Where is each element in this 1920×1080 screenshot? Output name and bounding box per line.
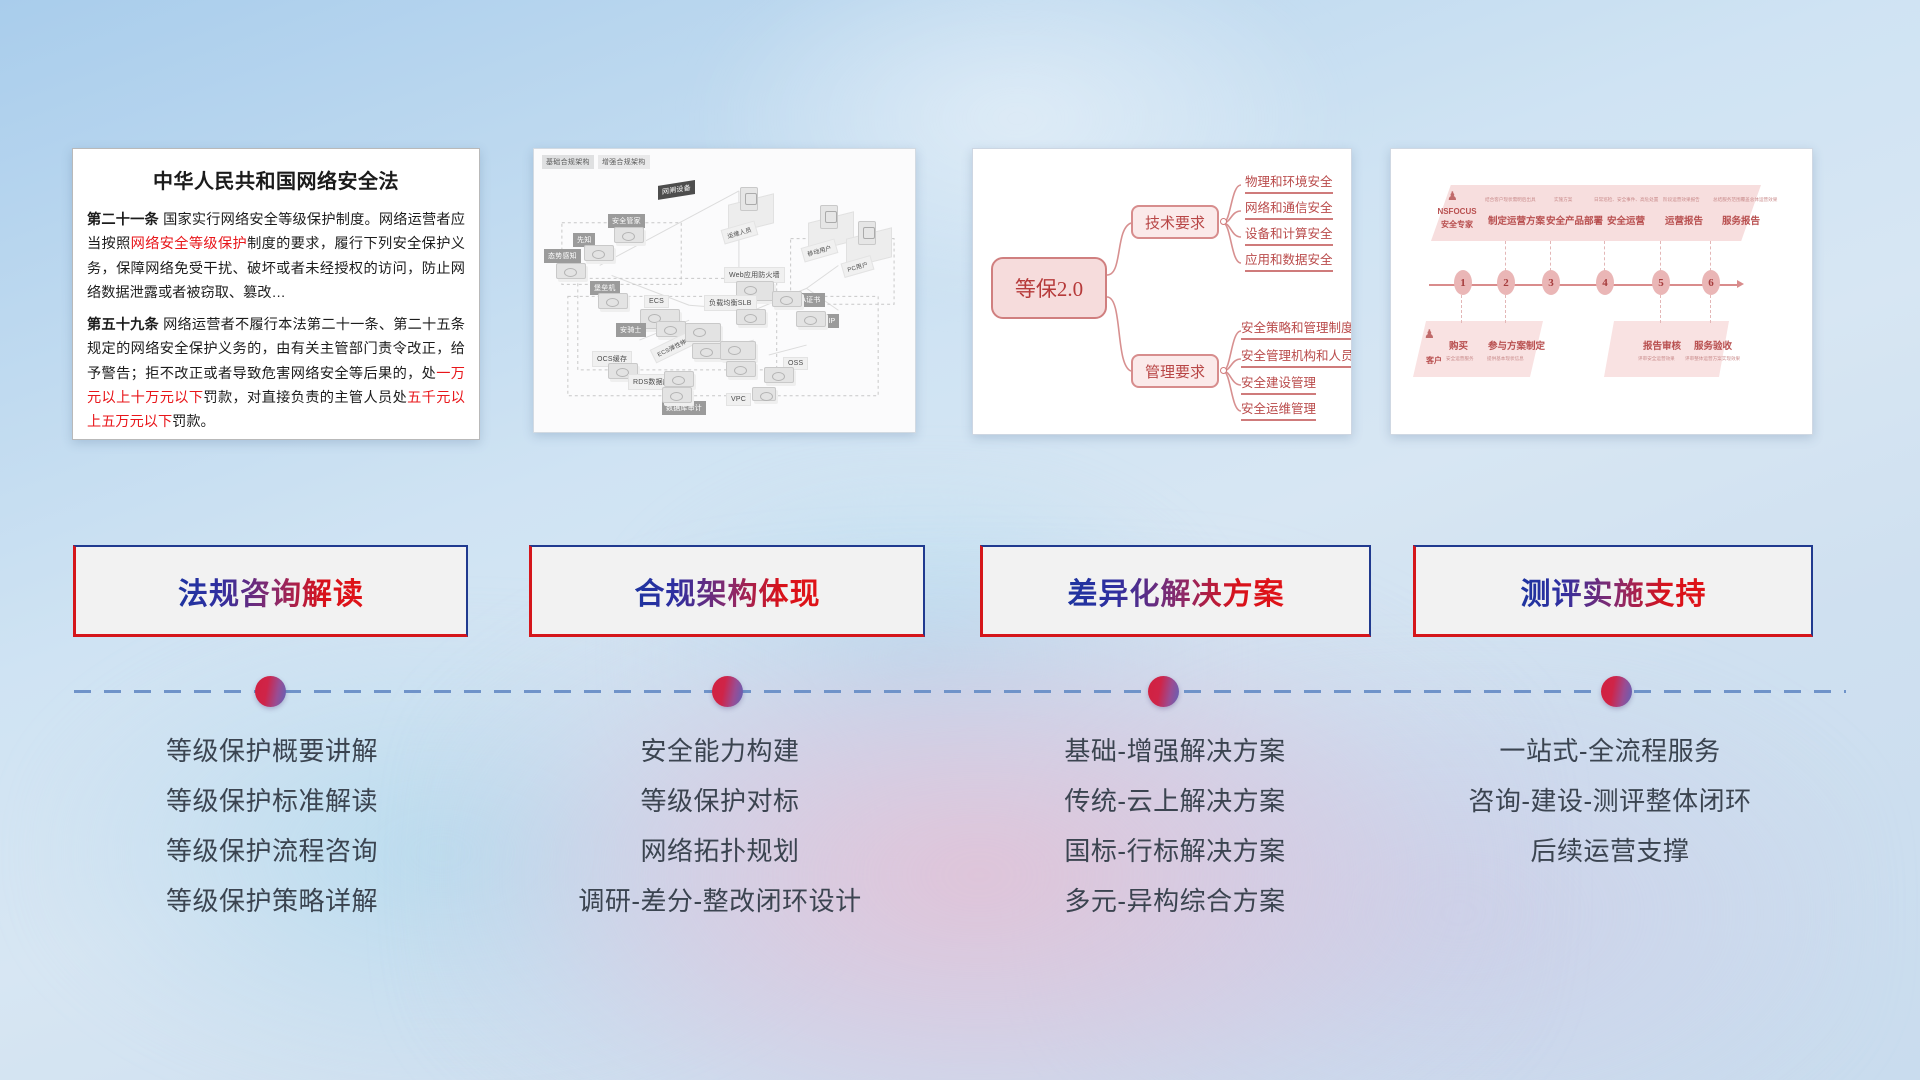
headline-boxes-row: 法规咨询解读 合规架构体现 差异化解决方案 测评实施支持 xyxy=(0,545,1920,645)
timeline-axis xyxy=(1429,284,1739,286)
step-label: 运营报告 xyxy=(1665,213,1703,227)
node-icon-pc-user xyxy=(858,221,876,245)
law-title: 中华人民共和国网络安全法 xyxy=(73,165,479,194)
bottom-item-sub: 评审安全运营效果 xyxy=(1638,356,1675,362)
mindmap-leaf: 安全运维管理 xyxy=(1241,398,1316,421)
list-item: 等级保护概要讲解 xyxy=(72,738,472,764)
headline-box-differentiated-solution[interactable]: 差异化解决方案 xyxy=(980,545,1371,637)
architecture-tabs[interactable]: 基础合规架构 增强合规架构 xyxy=(542,155,650,169)
headline-box-assessment-support[interactable]: 测评实施支持 xyxy=(1413,545,1813,637)
step-label: 服务报告 xyxy=(1722,213,1760,227)
node-icon-autoscale-d xyxy=(726,361,756,377)
timeline-connector xyxy=(1710,241,1711,271)
list-item: 等级保护对标 xyxy=(500,788,940,814)
timeline-dot-2[interactable] xyxy=(712,676,743,707)
card-dengbao-mindmap[interactable]: 等保2.0 技术要求 物理和环境安全 网络和通信安全 设备和计算安全 应用和数据… xyxy=(972,148,1352,435)
mindmap-branch-management: 管理要求 xyxy=(1131,354,1219,388)
timeline-node: 6 xyxy=(1702,270,1720,295)
list-column-compliance-architecture: 安全能力构建 等级保护对标 网络拓扑规划 调研-差分-整改闭环设计 xyxy=(500,738,940,938)
mindmap-root: 等保2.0 xyxy=(991,257,1107,319)
headline-label: 合规架构体现 xyxy=(635,569,821,613)
law-paragraph: 第二十一条 国家实行网络安全等级保护制度。网络运营者应当按照网络安全等级保护制度… xyxy=(87,208,465,306)
customer-person-icon: ♟ xyxy=(1424,327,1435,341)
bottom-item-sub: 提供基本现状信息 xyxy=(1487,356,1524,362)
timeline-connector xyxy=(1604,241,1605,271)
node-icon-xianzhi xyxy=(584,245,614,261)
list-item: 国标-行标解决方案 xyxy=(975,838,1375,864)
timeline-node: 4 xyxy=(1596,270,1614,295)
list-column-assessment-support: 一站式-全流程服务 咨询-建设-测评整体闭环 后续运营支撑 xyxy=(1400,738,1820,888)
bottom-item-label: 服务验收 xyxy=(1694,338,1732,352)
tab-enhanced-architecture[interactable]: 增强合规架构 xyxy=(598,155,650,169)
step-sub: 总结服务范围覆盖总体运营效果 xyxy=(1713,197,1777,203)
list-item: 后续运营支撑 xyxy=(1400,838,1820,864)
preview-cards-row: 中华人民共和国网络安全法 第二十一条 国家实行网络安全等级保护制度。网络运营者应… xyxy=(0,148,1920,443)
mindmap-leaf: 应用和数据安全 xyxy=(1245,249,1333,272)
list-item: 多元-异构综合方案 xyxy=(975,888,1375,914)
law-body: 第二十一条 国家实行网络安全等级保护制度。网络运营者应当按照网络安全等级保护制度… xyxy=(73,208,479,435)
architecture-diagram: 基础合规架构 增强合规架构 xyxy=(534,149,915,432)
step-sub: 实施方案 xyxy=(1554,197,1572,203)
card-cybersecurity-law[interactable]: 中华人民共和国网络安全法 第二十一条 国家实行网络安全等级保护制度。网络运营者应… xyxy=(72,148,480,440)
step-sub: 阶段运营效果报告 xyxy=(1663,197,1700,203)
timeline-node: 3 xyxy=(1542,270,1560,295)
timeline-connector-row xyxy=(0,640,1920,750)
mindmap-branch-technical: 技术要求 xyxy=(1131,205,1219,239)
mindmap-leaf: 网络和通信安全 xyxy=(1245,197,1333,220)
list-item: 调研-差分-整改闭环设计 xyxy=(500,888,940,914)
node-icon-ops-user xyxy=(740,187,758,211)
card-compliance-architecture[interactable]: 基础合规架构 增强合规架构 xyxy=(533,148,916,433)
node-icon-autoscale-b xyxy=(692,343,722,359)
bottom-item-label: 报告审核 xyxy=(1643,338,1681,352)
bottom-item-label: 购买 xyxy=(1449,338,1468,352)
mindmap-leaf: 安全策略和管理制度 xyxy=(1241,317,1352,340)
node-icon-oss xyxy=(764,367,794,383)
timeline-node: 1 xyxy=(1454,270,1472,295)
headline-label: 差异化解决方案 xyxy=(1068,569,1285,613)
mindmap-leaf: 安全管理机构和人员 xyxy=(1241,345,1352,368)
node-label-ecs: ECS xyxy=(644,295,669,308)
node-icon-bastion xyxy=(598,293,628,309)
step-sub: 结合客户现状需明后出具 xyxy=(1485,197,1536,203)
card-nsfocus-service-timeline[interactable]: ♟ NSFOCUS 安全专家 结合客户现状需明后出具 制定运营方案 实施方案 安… xyxy=(1390,148,1813,435)
bottom-lists-row: 等级保护概要讲解 等级保护标准解读 等级保护流程咨询 等级保护策略详解 安全能力… xyxy=(0,738,1920,988)
list-column-differentiated-solution: 基础-增强解决方案 传统-云上解决方案 国标-行标解决方案 多元-异构综合方案 xyxy=(975,738,1375,938)
timeline-dashed-line xyxy=(74,690,1846,693)
headline-label: 法规咨询解读 xyxy=(178,569,364,613)
timeline-connector xyxy=(1550,241,1551,271)
bottom-item-sub: 评审整体运营方案实现效果 xyxy=(1685,356,1740,362)
mindmap-leaf: 设备和计算安全 xyxy=(1245,223,1333,246)
timeline-connector xyxy=(1660,295,1661,323)
node-icon-anti-ddos-ip xyxy=(796,311,826,327)
node-icon-rds xyxy=(664,371,694,387)
list-item: 等级保护标准解读 xyxy=(72,788,472,814)
timeline-connector xyxy=(1461,295,1462,323)
step-sub: 日常巡检、安全事件、高危处置 xyxy=(1594,197,1658,203)
timeline-dot-3[interactable] xyxy=(1148,676,1179,707)
timeline-arrow-icon xyxy=(1737,280,1744,288)
mindmap-leaf: 物理和环境安全 xyxy=(1245,171,1333,194)
bottom-item-label: 参与方案制定 xyxy=(1488,338,1545,352)
nsfocus-brand-sub: 安全专家 xyxy=(1431,219,1483,230)
list-item: 网络拓扑规划 xyxy=(500,838,940,864)
list-item: 咨询-建设-测评整体闭环 xyxy=(1400,788,1820,814)
list-item: 基础-增强解决方案 xyxy=(975,738,1375,764)
timeline-connector xyxy=(1710,295,1711,323)
node-label-anqishi: 安骑士 xyxy=(616,323,646,337)
timeline-node: 2 xyxy=(1497,270,1515,295)
step-label: 安全运营 xyxy=(1607,213,1645,227)
list-column-regulation-consulting: 等级保护概要讲解 等级保护标准解读 等级保护流程咨询 等级保护策略详解 xyxy=(72,738,472,938)
node-icon-security-butler xyxy=(614,227,644,243)
list-item: 一站式-全流程服务 xyxy=(1400,738,1820,764)
timeline-connector xyxy=(1660,241,1661,271)
timeline-connector xyxy=(1505,295,1506,323)
law-paragraph: 第五十九条 网络运营者不履行本法第二十一条、第二十五条规定的网络安全保护义务的，… xyxy=(87,313,465,435)
mindmap-leaf: 安全建设管理 xyxy=(1241,372,1316,395)
headline-label: 测评实施支持 xyxy=(1521,569,1707,613)
node-icon-db-audit xyxy=(662,387,692,403)
node-icon-ca-cert xyxy=(772,291,802,307)
node-label-situation-awareness: 态势感知 xyxy=(544,249,581,263)
mindmap-collapse-icon[interactable] xyxy=(1220,367,1227,374)
headline-box-compliance-architecture[interactable]: 合规架构体现 xyxy=(529,545,925,637)
architecture-canvas: 网闸设备 安全管家 先知 态势感知 堡垒机 ECS 安骑士 OCS缓存 RDS数 xyxy=(540,171,909,426)
nsfocus-brand: NSFOCUS xyxy=(1431,207,1483,216)
law-article-number: 第二十一条 xyxy=(87,212,159,228)
law-article-number: 第五十九条 xyxy=(87,317,159,333)
law-text-highlight: 网络安全等级保护 xyxy=(131,236,247,252)
list-item: 安全能力构建 xyxy=(500,738,940,764)
nsfocus-timeline: ♟ NSFOCUS 安全专家 结合客户现状需明后出具 制定运营方案 实施方案 安… xyxy=(1391,149,1812,434)
timeline-dot-4[interactable] xyxy=(1601,676,1632,707)
expert-person-icon: ♟ xyxy=(1447,189,1458,203)
node-icon-autoscale-a xyxy=(685,323,721,342)
list-item: 传统-云上解决方案 xyxy=(975,788,1375,814)
node-icon-situation-awareness xyxy=(556,263,586,279)
headline-box-regulation-consulting[interactable]: 法规咨询解读 xyxy=(73,545,468,637)
mindmap: 等保2.0 技术要求 物理和环境安全 网络和通信安全 设备和计算安全 应用和数据… xyxy=(973,149,1351,434)
node-icon-mobile-user xyxy=(820,205,838,229)
list-item: 等级保护策略详解 xyxy=(72,888,472,914)
mindmap-collapse-icon[interactable] xyxy=(1220,218,1227,225)
node-label-security-butler: 安全管家 xyxy=(608,214,645,228)
tab-basic-architecture[interactable]: 基础合规架构 xyxy=(542,155,594,169)
list-item: 等级保护流程咨询 xyxy=(72,838,472,864)
node-icon-autoscale-c xyxy=(720,341,756,360)
timeline-dot-1[interactable] xyxy=(255,676,286,707)
node-label-db-audit: 数据库审计 xyxy=(662,401,706,415)
bottom-item-sub: 安全运营服务 xyxy=(1446,356,1474,362)
node-icon-slb xyxy=(736,309,766,325)
step-label: 安全产品部署 xyxy=(1546,213,1603,227)
timeline-node: 5 xyxy=(1652,270,1670,295)
timeline-connector xyxy=(1505,241,1506,271)
step-label: 制定运营方案 xyxy=(1488,213,1545,227)
node-icon-vpc xyxy=(752,387,776,401)
law-text: 罚款，对直接负责的主管人员处 xyxy=(203,390,407,406)
node-label-vpc: VPC xyxy=(726,393,751,406)
law-text: 罚款。 xyxy=(172,414,215,430)
